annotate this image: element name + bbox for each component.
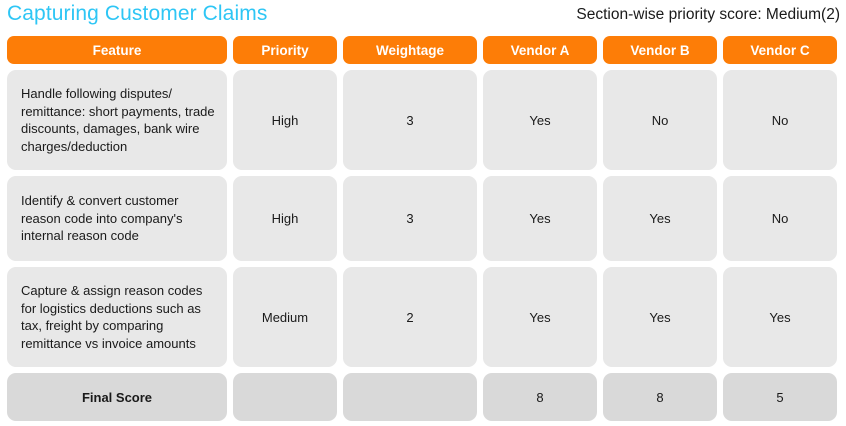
cell-priority: High	[233, 176, 337, 261]
column-header-weightage[interactable]: Weightage	[343, 36, 477, 64]
cell-feature: Capture & assign reason codes for logist…	[7, 267, 227, 367]
cell-vendor-c: Yes	[723, 267, 837, 367]
cell-priority: Medium	[233, 267, 337, 367]
page-title: Capturing Customer Claims	[7, 2, 267, 26]
cell-priority: High	[233, 70, 337, 170]
column-header-feature[interactable]: Feature	[7, 36, 227, 64]
final-score-vendor-a: 8	[483, 373, 597, 421]
table-header-row: Feature Priority Weightage Vendor A Vend…	[0, 36, 846, 64]
column-header-vendor-a[interactable]: Vendor A	[483, 36, 597, 64]
final-score-priority	[233, 373, 337, 421]
cell-weightage: 2	[343, 267, 477, 367]
cell-feature: Handle following disputes/ remittance: s…	[7, 70, 227, 170]
cell-weightage: 3	[343, 176, 477, 261]
final-score-label: Final Score	[7, 373, 227, 421]
cell-vendor-c: No	[723, 176, 837, 261]
column-header-priority[interactable]: Priority	[233, 36, 337, 64]
final-score-weightage	[343, 373, 477, 421]
cell-vendor-a: Yes	[483, 267, 597, 367]
table-row: Handle following disputes/ remittance: s…	[0, 70, 846, 170]
vendor-comparison-table: Feature Priority Weightage Vendor A Vend…	[0, 36, 846, 426]
cell-vendor-c: No	[723, 70, 837, 170]
final-score-vendor-c: 5	[723, 373, 837, 421]
section-priority-score: Section-wise priority score: Medium(2)	[576, 6, 840, 24]
final-score-row: Final Score 8 8 5	[0, 373, 846, 421]
cell-vendor-b: Yes	[603, 267, 717, 367]
page-header: Capturing Customer Claims Section-wise p…	[0, 0, 846, 36]
cell-vendor-b: Yes	[603, 176, 717, 261]
cell-vendor-a: Yes	[483, 176, 597, 261]
column-header-vendor-b[interactable]: Vendor B	[603, 36, 717, 64]
table-row: Identify & convert customer reason code …	[0, 176, 846, 261]
cell-vendor-a: Yes	[483, 70, 597, 170]
table-row: Capture & assign reason codes for logist…	[0, 267, 846, 367]
cell-vendor-b: No	[603, 70, 717, 170]
final-score-vendor-b: 8	[603, 373, 717, 421]
column-header-vendor-c[interactable]: Vendor C	[723, 36, 837, 64]
cell-feature: Identify & convert customer reason code …	[7, 176, 227, 261]
cell-weightage: 3	[343, 70, 477, 170]
